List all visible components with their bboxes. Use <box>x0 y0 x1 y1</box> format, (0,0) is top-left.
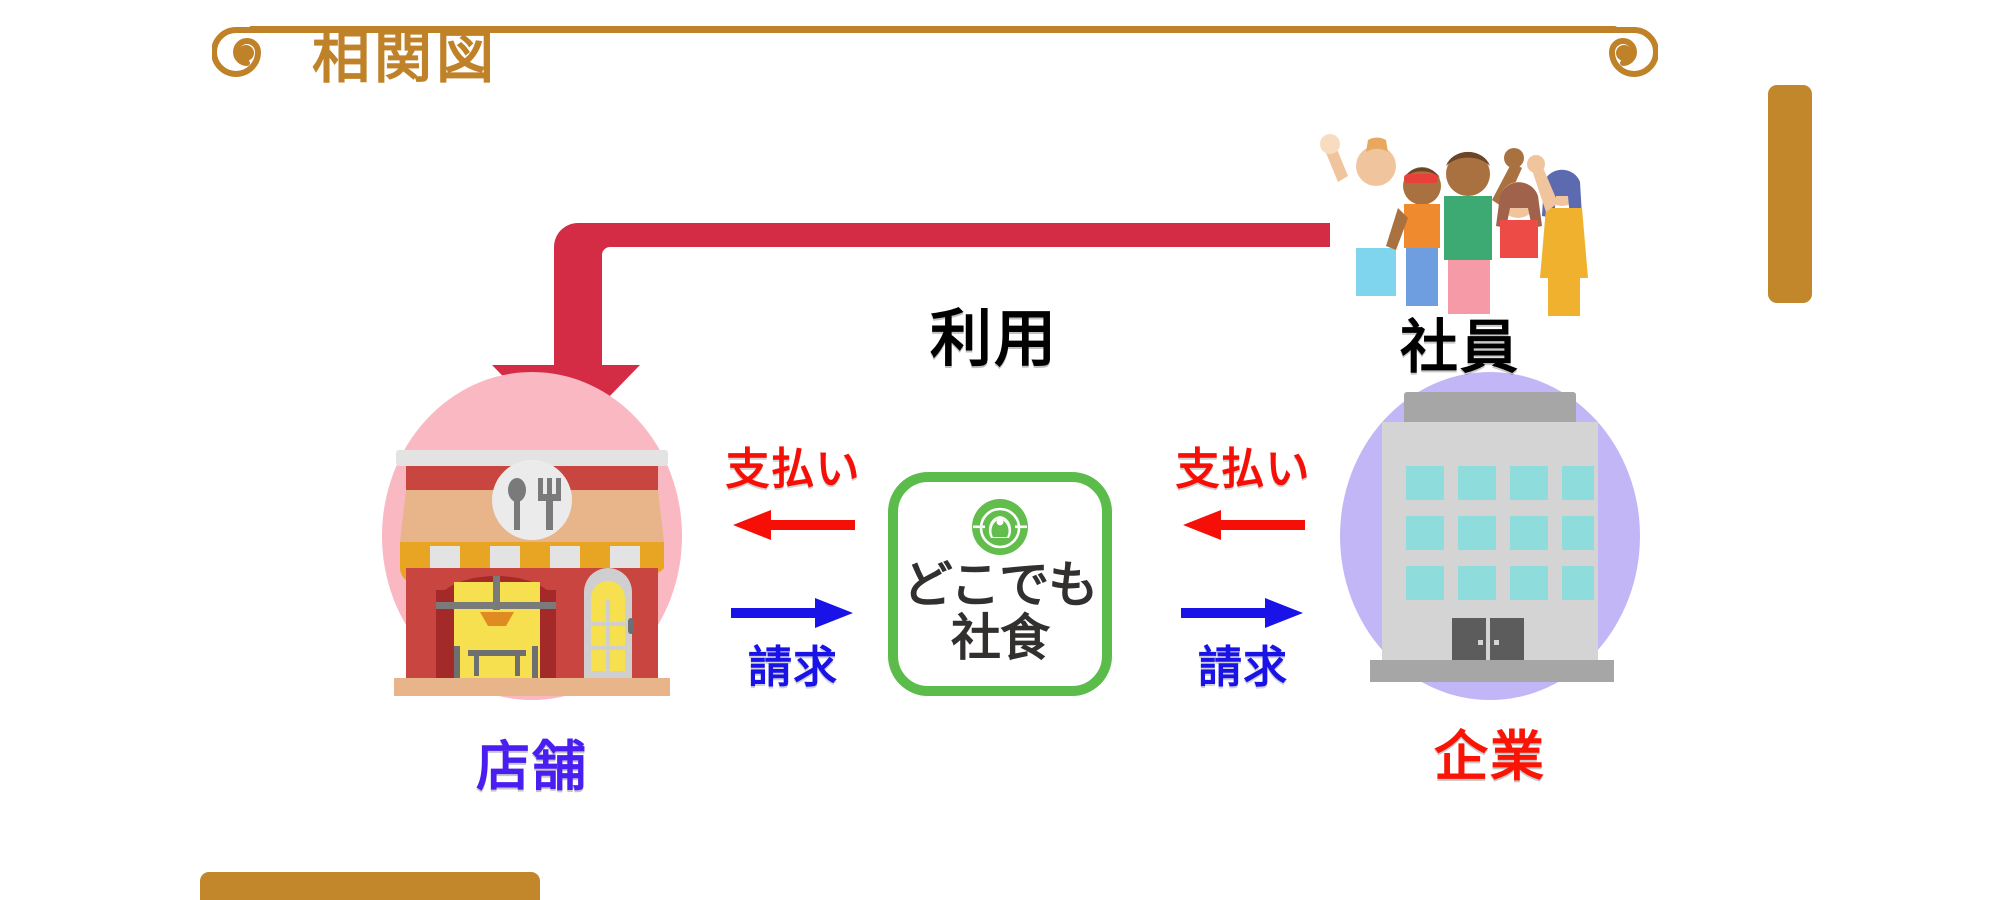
store-billing-arrow-icon <box>708 592 878 634</box>
use-flow-label: 利用 <box>930 288 1058 378</box>
corp-billing-label: 請求 <box>1158 646 1328 690</box>
spiral-ornament-left-icon <box>212 22 290 100</box>
store-payment-arrow-icon <box>708 504 878 546</box>
service-logo-card: どこでも 社食 <box>888 472 1112 696</box>
gold-accent-bar-right <box>1768 85 1812 303</box>
service-name-line2: 社食 <box>951 613 1049 664</box>
corp-payment-arrow-icon <box>1158 504 1328 546</box>
gold-accent-bar-bottom <box>200 872 540 900</box>
service-emblem-icon <box>971 498 1029 556</box>
spiral-ornament-right-icon <box>1580 22 1658 100</box>
store-payment-label: 支払い <box>708 448 878 492</box>
staff-node-label: 社員 <box>1400 300 1520 384</box>
store-billing-label: 請求 <box>708 646 878 690</box>
store-hub-flows: 支払い 請求 <box>708 448 878 690</box>
office-building-illustration <box>1370 392 1614 697</box>
corp-hub-flows: 支払い 請求 <box>1158 448 1328 690</box>
corp-billing-arrow-icon <box>1158 592 1328 634</box>
slide-canvas: 相関図 利用 <box>0 0 2000 900</box>
corp-payment-label: 支払い <box>1158 448 1328 492</box>
storefront-illustration <box>392 450 672 715</box>
service-name-line1: どこでも <box>903 560 1098 611</box>
store-node-label: 店舗 <box>476 722 588 801</box>
corp-node-label: 企業 <box>1434 712 1546 791</box>
page-title: 相関図 <box>312 26 498 90</box>
